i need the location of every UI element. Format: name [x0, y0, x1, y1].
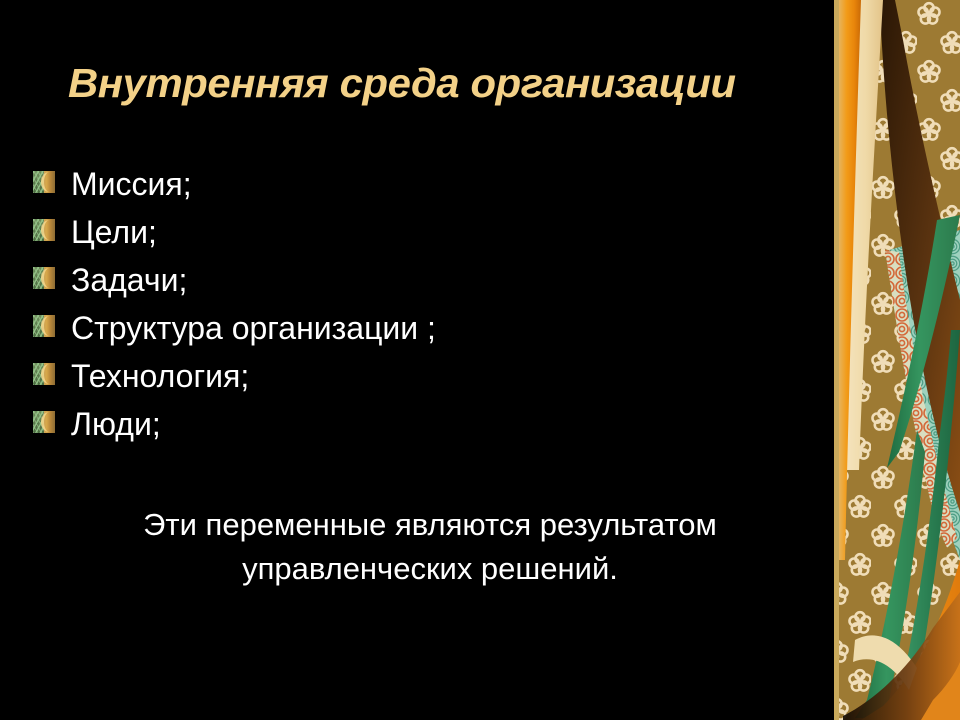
list-item-label: Технология; — [71, 355, 249, 397]
ornament-square-bullet-icon — [33, 363, 55, 385]
ornament-square-bullet-icon — [33, 171, 55, 193]
bullet-list: Миссия; Цели; Задачи; Структура организа… — [33, 163, 793, 451]
page-title: Внутренняя среда организации — [68, 62, 792, 105]
ornament-square-bullet-icon — [33, 411, 55, 433]
list-item-label: Структура организации ; — [71, 307, 436, 349]
ornament-square-bullet-icon — [33, 267, 55, 289]
slide-canvas: Внутренняя среда организации Миссия; Цел… — [0, 0, 960, 720]
decorative-border-graphic — [825, 0, 960, 720]
list-item: Люди; — [33, 403, 793, 451]
ornament-square-bullet-icon — [33, 219, 55, 241]
list-item-label: Цели; — [71, 211, 157, 253]
list-item: Технология; — [33, 355, 793, 403]
floral-ribbon-border-decoration — [825, 0, 960, 720]
list-item-label: Задачи; — [71, 259, 187, 301]
list-item-label: Люди; — [71, 403, 161, 445]
list-item: Цели; — [33, 211, 793, 259]
ornament-square-bullet-icon — [33, 315, 55, 337]
list-item: Задачи; — [33, 259, 793, 307]
list-item: Структура организации ; — [33, 307, 793, 355]
closing-paragraph: Эти переменные являются результатом упра… — [40, 503, 820, 591]
list-item: Миссия; — [33, 163, 793, 211]
list-item-label: Миссия; — [71, 163, 192, 205]
